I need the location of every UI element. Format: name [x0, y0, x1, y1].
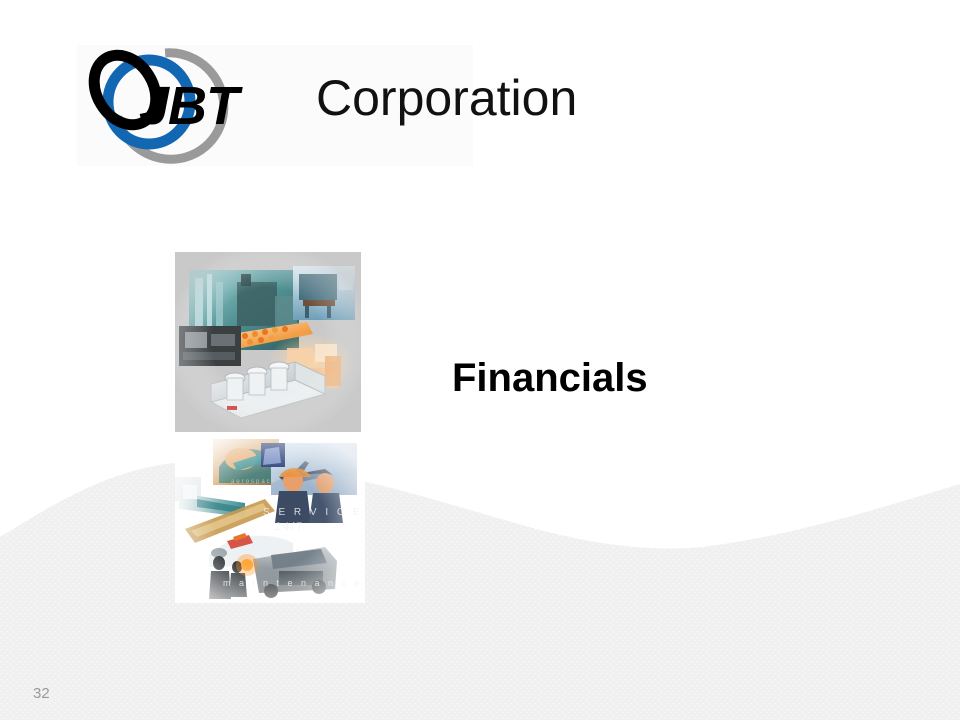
logo-brand-text: JBT [139, 79, 238, 133]
image-food-processing-montage [175, 252, 361, 432]
image-caption-aerospace: aerospace [231, 479, 277, 485]
logo-suffix-text: Corporation [316, 73, 577, 123]
page-number: 32 [33, 686, 50, 701]
image-caption-maintenance: m a i n t e n a n c e [223, 578, 363, 588]
food-processing-artwork [175, 252, 361, 432]
wave-shape [0, 461, 960, 720]
logo-wordmark: JBT Corporation [139, 69, 469, 143]
image-caption-247: 24/7 [275, 521, 304, 533]
slide-title: Financials [452, 358, 648, 398]
image-caption-service: S E R V I C E [263, 507, 363, 518]
slide-canvas: JBT Corporation [0, 0, 960, 720]
company-logo: JBT Corporation [77, 45, 473, 166]
image-aerospace-services-montage: aerospace S E R V I C E 24/7 m a i n t e… [175, 437, 365, 603]
